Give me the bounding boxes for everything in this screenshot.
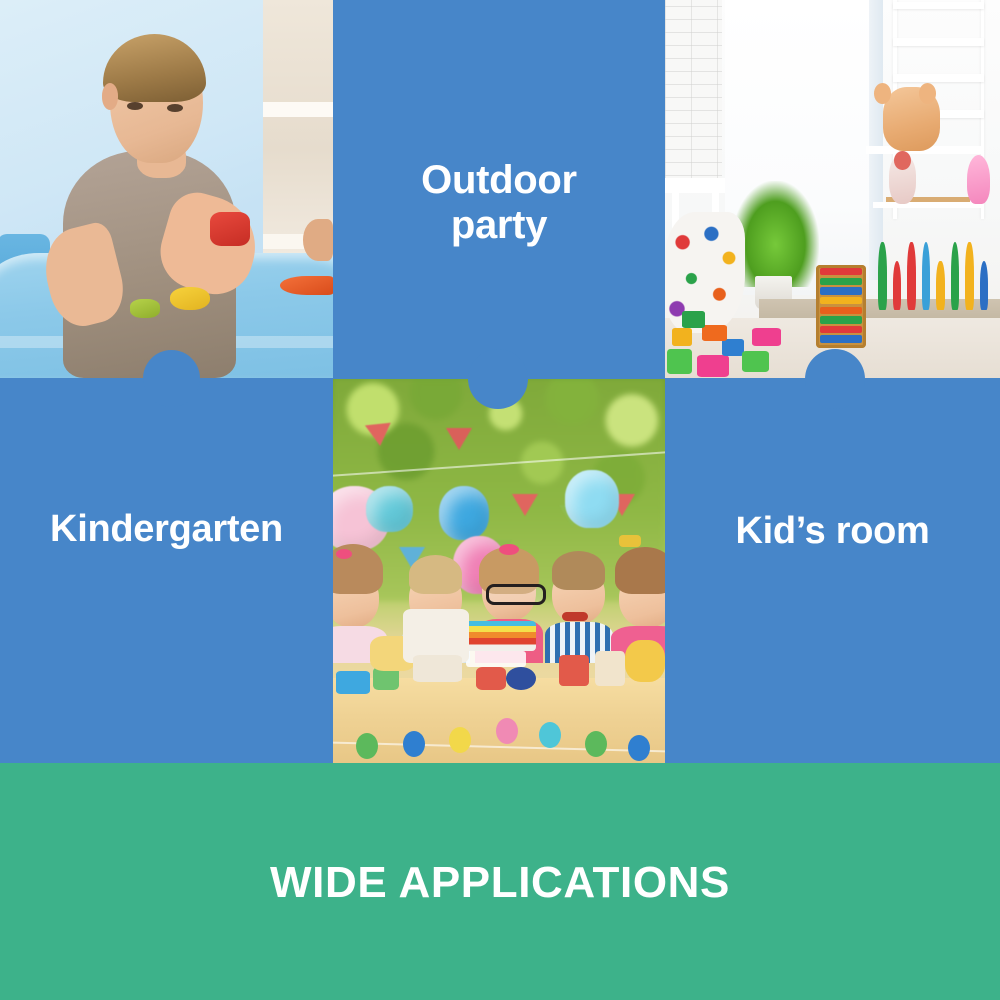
child-hair [615,547,665,593]
cell-party-photo [333,378,665,763]
photo-boy-play-dough [0,0,333,378]
abacus-row [820,316,862,323]
floor-toy [702,325,727,341]
blue-bowl [506,667,536,690]
bowling-pin-toys [876,242,997,310]
ladder-rung [893,74,983,82]
potted-bamboo-plant [732,181,819,287]
balloon-lightblue [565,470,618,528]
lollipop [625,640,665,682]
outdoor-party-label-line2: party [333,203,665,248]
bowling-pin [922,242,930,310]
novelty-glasses [486,584,546,605]
child-hair [409,555,462,594]
wooden-abacus [816,265,866,348]
boy-ear [102,83,119,109]
orange-dough [280,276,333,295]
red-dough-mold [210,212,250,246]
dessert-plate [413,655,463,682]
second-child-hand [303,219,333,261]
bowling-pin [907,242,915,310]
kindergarten-label: Kindergarten [0,508,333,551]
floor-toy [672,328,692,347]
banner-title: WIDE APPLICATIONS [0,763,1000,905]
shelf [263,102,333,117]
bunting-flag [365,423,393,448]
polka-cup [476,667,506,690]
outdoor-party-label-line1: Outdoor [333,158,665,203]
white-side-table [665,178,725,193]
curtain [869,0,882,280]
party-hat [619,535,641,547]
bunting-flag [446,428,472,450]
bowling-pin [965,242,973,310]
white-brick-wall [665,0,722,189]
abacus-row [820,268,862,275]
candy-jar [595,651,625,686]
abacus-row [820,297,862,304]
yellow-dough [170,287,210,310]
floor-toy [742,351,769,373]
abacus-row [820,326,862,333]
seam-left [0,378,333,381]
floor-toy [722,339,744,356]
floor-toy [697,355,729,377]
wide-applications-banner: WIDE APPLICATIONS [0,763,1000,1000]
photo-kids-playroom [665,0,1000,378]
bunting-flag [512,494,538,516]
bowling-pin [980,261,988,310]
novelty-moustache [562,612,588,621]
abacus-row [820,307,862,314]
puzzle-tab-down-center [468,349,528,409]
abacus-row [820,335,862,342]
photo-outdoor-birthday-party [333,378,665,763]
balloon-blue [439,486,489,540]
balloon-teal [366,486,412,532]
outdoor-party-label: Outdoor party [333,158,665,248]
child-hair [552,551,605,590]
scattered-floor-toys [665,306,789,378]
seam-right [665,378,1000,381]
bowling-pin [878,242,886,310]
seam-center [333,375,665,379]
garland-pompom [496,718,518,744]
polka-cup [559,655,589,686]
wide-applications-infographic: Outdoor party [0,0,1000,1000]
party-cup [336,671,369,694]
pink-bunny-toy [967,155,990,204]
cell-kids-room-photo [665,0,1000,378]
green-dough [130,299,160,318]
abacus-row [820,287,862,294]
cell-outdoor-party: Outdoor party [333,0,665,378]
cell-kindergarten: Kindergarten [0,378,333,763]
garland-pompom [403,731,425,757]
kids-room-label: Kid’s room [665,510,1000,553]
boy-hair [103,34,206,102]
floor-toy [682,311,704,328]
bowling-pin [936,261,944,310]
abacus-row [820,278,862,285]
bowling-pin [893,261,901,310]
cell-playing-photo [0,0,333,378]
ladder-rung [893,38,983,46]
garland-pompom [539,722,561,748]
cake-stand [466,651,526,666]
ladder-rung [893,2,983,10]
floor-toy [667,349,692,373]
floor-toy [752,328,782,347]
cell-kids-room: Kid’s room [665,378,1000,763]
bowling-pin [951,242,959,310]
shelf-plank-lower [873,202,984,208]
